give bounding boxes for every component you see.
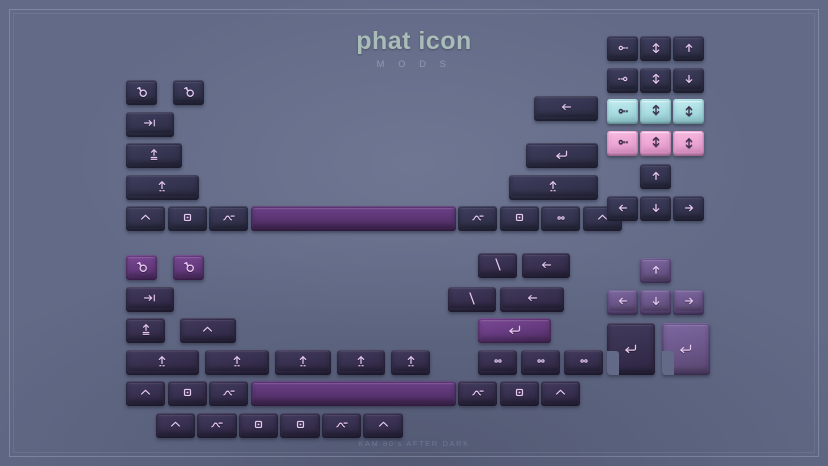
super-icon <box>253 419 264 430</box>
shift-icon <box>297 355 309 368</box>
keycap-escape[interactable] <box>173 80 204 105</box>
enter-icon <box>507 324 522 335</box>
keycap-surface <box>523 351 558 371</box>
keycap-surface <box>609 101 636 121</box>
keycap-control[interactable] <box>156 413 195 438</box>
keycap-menu[interactable] <box>541 206 580 231</box>
keycap-surface <box>609 38 636 58</box>
keycap-surface <box>642 198 669 218</box>
keycap-pageup[interactable] <box>673 131 704 156</box>
keycap-control[interactable] <box>180 318 236 343</box>
keycap-escape[interactable] <box>173 255 204 280</box>
keycap-surface <box>128 176 197 196</box>
backspace-icon <box>525 293 539 303</box>
arrow-down-icon <box>650 295 662 307</box>
keycap-surface <box>175 82 202 102</box>
keycap-menu[interactable] <box>478 350 517 375</box>
keycap-super[interactable] <box>168 381 207 406</box>
keycap-shift[interactable] <box>126 350 199 375</box>
keycap-surface <box>128 351 197 371</box>
shift-icon <box>355 355 367 368</box>
arrow-right-icon <box>683 202 695 214</box>
keycap-surface <box>543 208 578 228</box>
tab-icon <box>143 293 157 303</box>
super-icon <box>182 212 193 223</box>
keycap-alt[interactable] <box>458 206 497 231</box>
keycap-surface <box>241 415 276 435</box>
keycap-control[interactable] <box>126 381 165 406</box>
keycap-surface <box>642 38 669 58</box>
keycap-surface <box>675 69 702 89</box>
alt-icon <box>222 213 236 223</box>
keycap-alt[interactable] <box>458 381 497 406</box>
keycap-control[interactable] <box>363 413 402 438</box>
keycap-enter[interactable] <box>526 143 599 168</box>
keycap-surface <box>502 288 562 308</box>
scene: phat icon M O D S KAM 80's AFTER DARK <box>0 0 828 466</box>
super-icon <box>295 419 306 430</box>
keycap-surface <box>642 69 669 89</box>
keycap-surface <box>609 132 636 152</box>
keycap-surface <box>211 383 246 403</box>
keycap-surface <box>175 257 202 277</box>
keycap-surface <box>158 415 193 435</box>
keycap-surface <box>199 415 234 435</box>
arrow-up-icon <box>650 264 662 276</box>
keycap-alt[interactable] <box>209 381 248 406</box>
keycap-surface <box>524 255 568 275</box>
control-icon <box>377 420 390 429</box>
keycap-shift[interactable] <box>337 350 385 375</box>
backspace-icon <box>539 260 553 270</box>
keycap-surface <box>128 113 172 133</box>
keycap-arrow-up[interactable] <box>640 164 671 189</box>
arrow-down-icon <box>683 73 695 85</box>
arrow-left-icon <box>617 295 629 307</box>
shift-icon <box>547 180 559 193</box>
keycap-home[interactable] <box>607 36 638 61</box>
backslash-icon <box>467 291 477 306</box>
keycap-surface <box>528 145 597 165</box>
keycap-arrow-left[interactable] <box>607 196 638 221</box>
menu-icon <box>554 214 568 222</box>
keycap-surface <box>609 198 636 218</box>
keycap-backslash[interactable] <box>448 287 496 312</box>
keycap-arrow-down[interactable] <box>640 290 671 315</box>
keycap-surface <box>480 351 515 371</box>
keycap-super[interactable] <box>168 206 207 231</box>
keycap-surface <box>543 383 578 403</box>
keycap-control[interactable] <box>126 206 165 231</box>
control-icon <box>139 388 152 397</box>
super-icon <box>514 387 525 398</box>
keycap-capslock[interactable] <box>126 318 165 343</box>
keycap-shift[interactable] <box>205 350 269 375</box>
keycap-shift[interactable] <box>391 350 430 375</box>
keycap-surface <box>480 255 515 275</box>
keycap-capslock[interactable] <box>126 143 182 168</box>
pageup-icon <box>650 41 662 54</box>
arrow-right-icon <box>683 295 695 307</box>
keycap-shift[interactable] <box>275 350 331 375</box>
keycap-super[interactable] <box>500 381 539 406</box>
keycap-surface <box>502 208 537 228</box>
page-subtitle: M O D S <box>0 60 828 70</box>
keycap-alt[interactable] <box>322 413 361 438</box>
keycap-enter[interactable] <box>662 323 710 375</box>
keycap-surface <box>128 208 163 228</box>
arrow-down-icon <box>650 202 662 214</box>
keycap-menu[interactable] <box>564 350 603 375</box>
keycap-enter[interactable] <box>478 318 551 343</box>
keycap-shift[interactable] <box>126 175 199 200</box>
keycap-surface <box>642 132 669 152</box>
keycap-surface <box>339 351 383 371</box>
home-icon <box>616 137 630 147</box>
enter-icon <box>678 343 693 354</box>
keycap-tab[interactable] <box>126 112 174 137</box>
keycap-arrow-up[interactable] <box>673 36 704 61</box>
keycap-surface <box>324 415 359 435</box>
keycap-control[interactable] <box>541 381 580 406</box>
capslock-icon <box>148 148 160 161</box>
escape-icon <box>135 260 149 274</box>
end-icon <box>616 74 630 84</box>
keycap-surface <box>128 257 155 277</box>
keycap-surface <box>642 101 669 121</box>
keycap-surface <box>675 101 702 121</box>
keycap-surface <box>502 383 537 403</box>
keycap-spacebar[interactable] <box>251 206 456 231</box>
menu-icon <box>534 357 548 365</box>
pageup-icon <box>683 136 695 149</box>
shift-icon <box>156 180 168 193</box>
footer-note: KAM 80's AFTER DARK <box>0 439 828 448</box>
keycap-surface <box>393 351 428 371</box>
keycap-surface <box>128 288 172 308</box>
keycap-surface <box>642 260 669 280</box>
home-icon <box>616 43 630 53</box>
keycap-surface <box>207 351 267 371</box>
pageup-icon <box>683 104 695 117</box>
keycap-pageup[interactable] <box>673 99 704 124</box>
menu-icon <box>577 357 591 365</box>
keycap-alt[interactable] <box>209 206 248 231</box>
keycap-escape[interactable] <box>126 255 157 280</box>
keycap-escape[interactable] <box>126 80 157 105</box>
keycap-pagedown[interactable] <box>640 131 671 156</box>
super-icon <box>514 212 525 223</box>
keycap-surface <box>511 176 596 196</box>
arrow-up-icon <box>683 42 695 54</box>
keycap-backspace[interactable] <box>500 287 564 312</box>
shift-icon <box>156 355 168 368</box>
keycap-surface <box>609 69 636 89</box>
keycap-surface <box>253 383 454 403</box>
capslock-icon <box>140 323 152 336</box>
keycap-surface <box>277 351 329 371</box>
alt-icon <box>471 213 485 223</box>
iso-notch <box>607 351 619 375</box>
keycap-surface <box>642 166 669 186</box>
keycap-home[interactable] <box>607 131 638 156</box>
keycap-spacebar[interactable] <box>251 381 456 406</box>
keycap-end[interactable] <box>607 68 638 93</box>
control-icon <box>139 213 152 222</box>
control-icon <box>554 388 567 397</box>
keycap-alt[interactable] <box>197 413 236 438</box>
keycap-surface <box>642 291 669 311</box>
escape-icon <box>182 85 196 99</box>
keycap-surface <box>536 97 596 117</box>
keycap-surface <box>460 383 495 403</box>
enter-icon <box>554 149 569 160</box>
keycap-pagedown[interactable] <box>640 99 671 124</box>
keycap-arrow-up[interactable] <box>640 258 671 283</box>
keycap-surface <box>128 145 180 165</box>
keycap-enter[interactable] <box>607 323 655 375</box>
keycap-pagedown[interactable] <box>640 68 671 93</box>
keycap-surface <box>128 82 155 102</box>
pagedown-icon <box>650 73 662 86</box>
keycap-shift[interactable] <box>509 175 598 200</box>
keycap-super[interactable] <box>280 413 319 438</box>
keycap-backslash[interactable] <box>478 253 517 278</box>
arrow-up-icon <box>650 170 662 182</box>
escape-icon <box>182 260 196 274</box>
keycap-arrow-right[interactable] <box>673 196 704 221</box>
keycap-surface <box>182 320 234 340</box>
keycap-arrow-left[interactable] <box>607 290 638 315</box>
escape-icon <box>135 85 149 99</box>
keycap-surface <box>282 415 317 435</box>
keycap-surface <box>460 208 495 228</box>
alt-icon <box>335 420 349 430</box>
super-icon <box>182 387 193 398</box>
alt-icon <box>471 388 485 398</box>
keycap-pageup[interactable] <box>640 36 671 61</box>
keycap-surface <box>211 208 246 228</box>
pagedown-icon <box>650 104 662 117</box>
keycap-surface <box>675 132 702 152</box>
control-icon <box>169 420 182 429</box>
pagedown-icon <box>650 136 662 149</box>
iso-notch <box>662 351 674 375</box>
tab-icon <box>143 118 157 128</box>
alt-icon <box>222 388 236 398</box>
keycap-surface <box>170 208 205 228</box>
keycap-surface <box>609 291 636 311</box>
keycap-surface <box>365 415 400 435</box>
keycap-surface <box>675 291 702 311</box>
keycap-arrow-down[interactable] <box>640 196 671 221</box>
backspace-icon <box>559 102 573 112</box>
keycap-surface <box>450 288 494 308</box>
keycap-super[interactable] <box>239 413 278 438</box>
keycap-menu[interactable] <box>521 350 560 375</box>
keycap-home[interactable] <box>607 99 638 124</box>
keycap-tab[interactable] <box>126 287 174 312</box>
keycap-surface <box>480 320 549 340</box>
control-icon <box>201 325 214 334</box>
keycap-backspace[interactable] <box>522 253 570 278</box>
keycap-surface <box>675 38 702 58</box>
shift-icon <box>231 355 243 368</box>
keycap-surface <box>170 383 205 403</box>
keycap-surface <box>566 351 601 371</box>
keycap-surface <box>128 320 163 340</box>
alt-icon <box>210 420 224 430</box>
shift-icon <box>405 355 417 368</box>
keycap-arrow-down[interactable] <box>673 68 704 93</box>
keycap-super[interactable] <box>500 206 539 231</box>
keycap-surface <box>253 208 454 228</box>
arrow-left-icon <box>617 202 629 214</box>
menu-icon <box>491 357 505 365</box>
enter-icon <box>623 343 638 354</box>
backslash-icon <box>493 257 503 272</box>
keycap-backspace[interactable] <box>534 96 598 121</box>
keycap-arrow-right[interactable] <box>673 290 704 315</box>
home-icon <box>616 106 630 116</box>
keycap-surface <box>675 198 702 218</box>
keycap-surface <box>128 383 163 403</box>
